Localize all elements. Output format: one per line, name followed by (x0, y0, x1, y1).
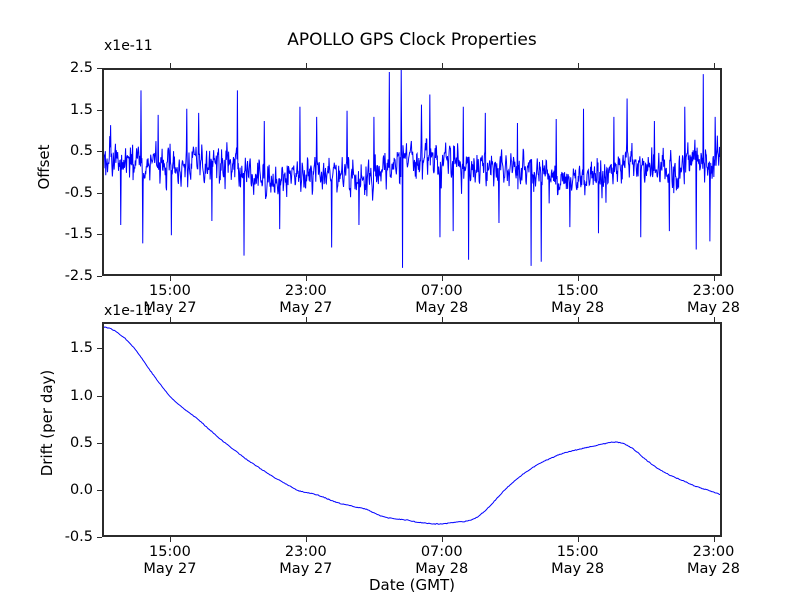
drift-line-plot (104, 324, 720, 535)
drift-xtick-mark (170, 317, 171, 322)
offset-xtick-label: 23:00 May 27 (246, 283, 366, 316)
offset-xtick-mark (714, 276, 715, 281)
offset-xtick-mark (306, 276, 307, 281)
x-axis-label: Date (GMT) (102, 576, 722, 594)
drift-xtick-mark (714, 537, 715, 542)
drift-ytick-mark (97, 537, 102, 538)
offset-xtick-label: 23:00 May 28 (654, 283, 774, 316)
offset-xtick-mark (442, 276, 443, 281)
offset-ytick-mark (97, 234, 102, 235)
offset-ytick-mark (97, 193, 102, 194)
offset-ytick-mark (97, 151, 102, 152)
matplotlib-figure: APOLLO GPS Clock Properties x1e-11 2.51.… (0, 0, 800, 600)
offset-y-axis-label: Offset (35, 107, 53, 227)
drift-ytick-label: -0.5 (10, 529, 102, 545)
drift-ytick-mark (97, 490, 102, 491)
drift-xtick-mark (442, 317, 443, 322)
offset-xtick-mark (578, 63, 579, 68)
drift-plot-axes (102, 322, 722, 537)
drift-exponent-label: x1e-11 (104, 303, 153, 319)
offset-ytick-label: 2.5 (10, 60, 102, 76)
offset-xtick-mark (170, 63, 171, 68)
drift-xtick-mark (306, 317, 307, 322)
drift-xtick-label: 15:00 May 28 (518, 544, 638, 577)
offset-plot-axes (102, 68, 722, 276)
offset-xtick-mark (170, 276, 171, 281)
drift-trace (104, 327, 720, 524)
drift-xtick-label: 07:00 May 28 (382, 544, 502, 577)
drift-xtick-label: 23:00 May 28 (654, 544, 774, 577)
offset-xtick-label: 07:00 May 28 (382, 283, 502, 316)
drift-ytick-label: 0.5 (10, 435, 102, 451)
offset-xtick-mark (578, 276, 579, 281)
offset-line-plot (104, 70, 720, 274)
offset-ytick-mark (97, 276, 102, 277)
offset-xtick-mark (442, 63, 443, 68)
offset-ytick-mark (97, 68, 102, 69)
drift-ytick-mark (97, 396, 102, 397)
drift-xtick-mark (442, 537, 443, 542)
drift-ytick-mark (97, 348, 102, 349)
drift-xtick-label: 15:00 May 27 (110, 544, 230, 577)
offset-xtick-label: 15:00 May 28 (518, 283, 638, 316)
drift-ytick-mark (97, 443, 102, 444)
offset-ytick-label: 0.5 (10, 143, 102, 159)
offset-exponent-label: x1e-11 (104, 38, 153, 54)
drift-xtick-mark (578, 537, 579, 542)
offset-ytick-label: 1.5 (10, 102, 102, 118)
offset-ytick-label: -0.5 (10, 185, 102, 201)
offset-xtick-mark (306, 63, 307, 68)
offset-ytick-label: -2.5 (10, 268, 102, 284)
drift-xtick-mark (578, 317, 579, 322)
drift-xtick-label: 23:00 May 27 (246, 544, 366, 577)
drift-ytick-label: 1.0 (10, 388, 102, 404)
offset-ytick-mark (97, 110, 102, 111)
offset-trace (104, 70, 720, 268)
drift-ytick-label: 1.5 (10, 340, 102, 356)
figure-title: APOLLO GPS Clock Properties (102, 30, 722, 50)
drift-y-axis-label: Drift (per day) (38, 343, 56, 503)
offset-ytick-label: -1.5 (10, 226, 102, 242)
offset-xtick-mark (714, 63, 715, 68)
drift-xtick-mark (714, 317, 715, 322)
drift-ytick-label: 0.0 (10, 482, 102, 498)
drift-xtick-mark (170, 537, 171, 542)
drift-xtick-mark (306, 537, 307, 542)
